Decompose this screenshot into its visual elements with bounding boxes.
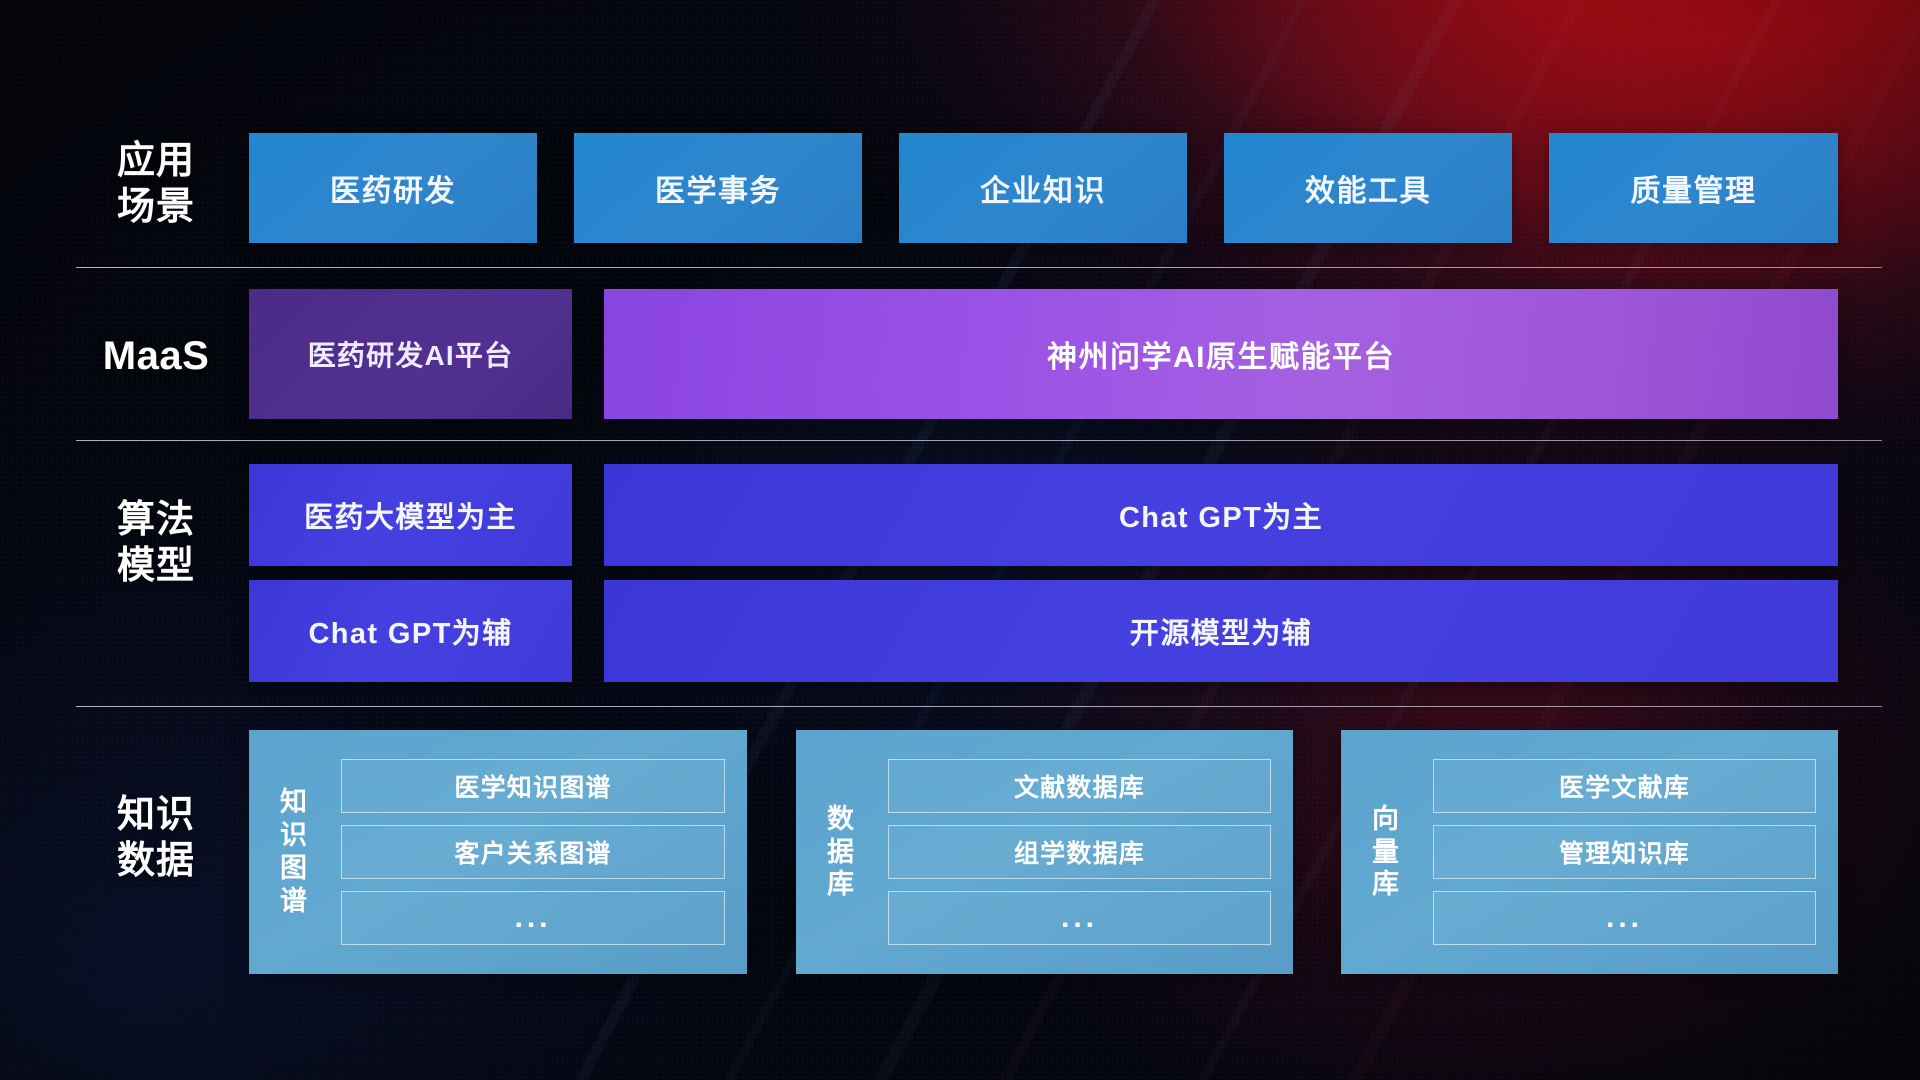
knowledge-group-title-database: 数 据 库 <box>796 803 878 902</box>
title-char-1: 向 <box>1349 803 1423 836</box>
title-char-1: 数 <box>804 803 878 836</box>
title-char-3: 库 <box>804 868 878 901</box>
row-label-line-1: 算法 <box>76 497 236 543</box>
model-box-opensource-secondary[interactable]: 开源模型为辅 <box>604 580 1838 682</box>
knowledge-item-medical-literature-store[interactable]: 医学文献库 <box>1433 759 1816 813</box>
title-char-1: 知 <box>257 786 331 819</box>
divider-line-1 <box>76 267 1882 268</box>
knowledge-item-more[interactable]: ... <box>341 891 725 945</box>
knowledge-item-customer-relation-graph[interactable]: 客户关系图谱 <box>341 825 725 879</box>
app-box-quality-management[interactable]: 质量管理 <box>1549 133 1838 243</box>
row-label-line-2: 数据 <box>76 838 236 884</box>
title-char-3: 库 <box>1349 868 1423 901</box>
row-label-line-1: 知识 <box>76 792 236 838</box>
model-box-label: 医药大模型为主 <box>304 494 517 536</box>
app-box-enterprise-knowledge[interactable]: 企业知识 <box>899 133 1187 243</box>
knowledge-group-title-knowledge-graph: 知 识 图 谱 <box>249 786 331 918</box>
app-box-label: 医药研发 <box>330 166 456 210</box>
row-label-line-1: 应用 <box>76 138 236 184</box>
row-label-line-2: 场景 <box>76 184 236 230</box>
model-box-label: Chat GPT为主 <box>1119 494 1323 536</box>
model-box-label: 开源模型为辅 <box>1130 610 1312 652</box>
knowledge-item-list: 医学知识图谱 客户关系图谱 ... <box>331 759 747 945</box>
knowledge-group-database[interactable]: 数 据 库 文献数据库 组学数据库 ... <box>796 730 1293 974</box>
knowledge-item-more[interactable]: ... <box>888 891 1271 945</box>
app-box-medicine-rd[interactable]: 医药研发 <box>249 133 537 243</box>
knowledge-group-vector-store[interactable]: 向 量 库 医学文献库 管理知识库 ... <box>1341 730 1838 974</box>
slide-canvas: 应用 场景 医药研发 医学事务 企业知识 效能工具 质量管理 MaaS 医药研发… <box>0 0 1920 1080</box>
title-char-2: 量 <box>1349 836 1423 869</box>
maas-box-medicine-rd-ai-platform[interactable]: 医药研发AI平台 <box>249 289 572 419</box>
knowledge-item-literature-database[interactable]: 文献数据库 <box>888 759 1271 813</box>
row-label-application-scenarios: 应用 场景 <box>76 138 236 231</box>
model-box-chatgpt-primary[interactable]: Chat GPT为主 <box>604 464 1838 566</box>
divider-line-2 <box>76 440 1882 441</box>
maas-box-label: 医药研发AI平台 <box>308 334 514 374</box>
knowledge-item-omics-database[interactable]: 组学数据库 <box>888 825 1271 879</box>
title-char-4: 谱 <box>257 885 331 918</box>
title-char-2: 识 <box>257 819 331 852</box>
row-label-algorithm-model: 算法 模型 <box>76 497 236 590</box>
row-label-knowledge-data: 知识 数据 <box>76 792 236 885</box>
knowledge-item-management-knowledge-store[interactable]: 管理知识库 <box>1433 825 1816 879</box>
app-box-label: 质量管理 <box>1631 166 1757 210</box>
knowledge-group-title-vector-store: 向 量 库 <box>1341 803 1423 902</box>
diagram-content: 应用 场景 医药研发 医学事务 企业知识 效能工具 质量管理 MaaS 医药研发… <box>0 0 1920 1080</box>
model-box-medicine-large-model-primary[interactable]: 医药大模型为主 <box>249 464 572 566</box>
model-box-label: Chat GPT为辅 <box>308 610 512 652</box>
row-label-maas: MaaS <box>76 332 236 381</box>
knowledge-item-medical-knowledge-graph[interactable]: 医学知识图谱 <box>341 759 725 813</box>
app-box-efficiency-tools[interactable]: 效能工具 <box>1224 133 1512 243</box>
app-box-label: 医学事务 <box>655 166 781 210</box>
app-box-medical-affairs[interactable]: 医学事务 <box>574 133 862 243</box>
model-box-chatgpt-secondary[interactable]: Chat GPT为辅 <box>249 580 572 682</box>
row-label-line-2: 模型 <box>76 543 236 589</box>
title-char-2: 据 <box>804 836 878 869</box>
maas-box-label: 神州问学AI原生赋能平台 <box>1047 332 1395 376</box>
knowledge-item-list: 文献数据库 组学数据库 ... <box>878 759 1293 945</box>
knowledge-group-knowledge-graph[interactable]: 知 识 图 谱 医学知识图谱 客户关系图谱 ... <box>249 730 747 974</box>
knowledge-item-more[interactable]: ... <box>1433 891 1816 945</box>
app-box-label: 企业知识 <box>980 166 1106 210</box>
row-label-text: MaaS <box>76 332 236 381</box>
maas-box-shenzhou-wenxue-platform[interactable]: 神州问学AI原生赋能平台 <box>604 289 1838 419</box>
title-char-3: 图 <box>257 852 331 885</box>
app-box-label: 效能工具 <box>1305 166 1431 210</box>
divider-line-3 <box>76 706 1882 707</box>
knowledge-item-list: 医学文献库 管理知识库 ... <box>1423 759 1838 945</box>
